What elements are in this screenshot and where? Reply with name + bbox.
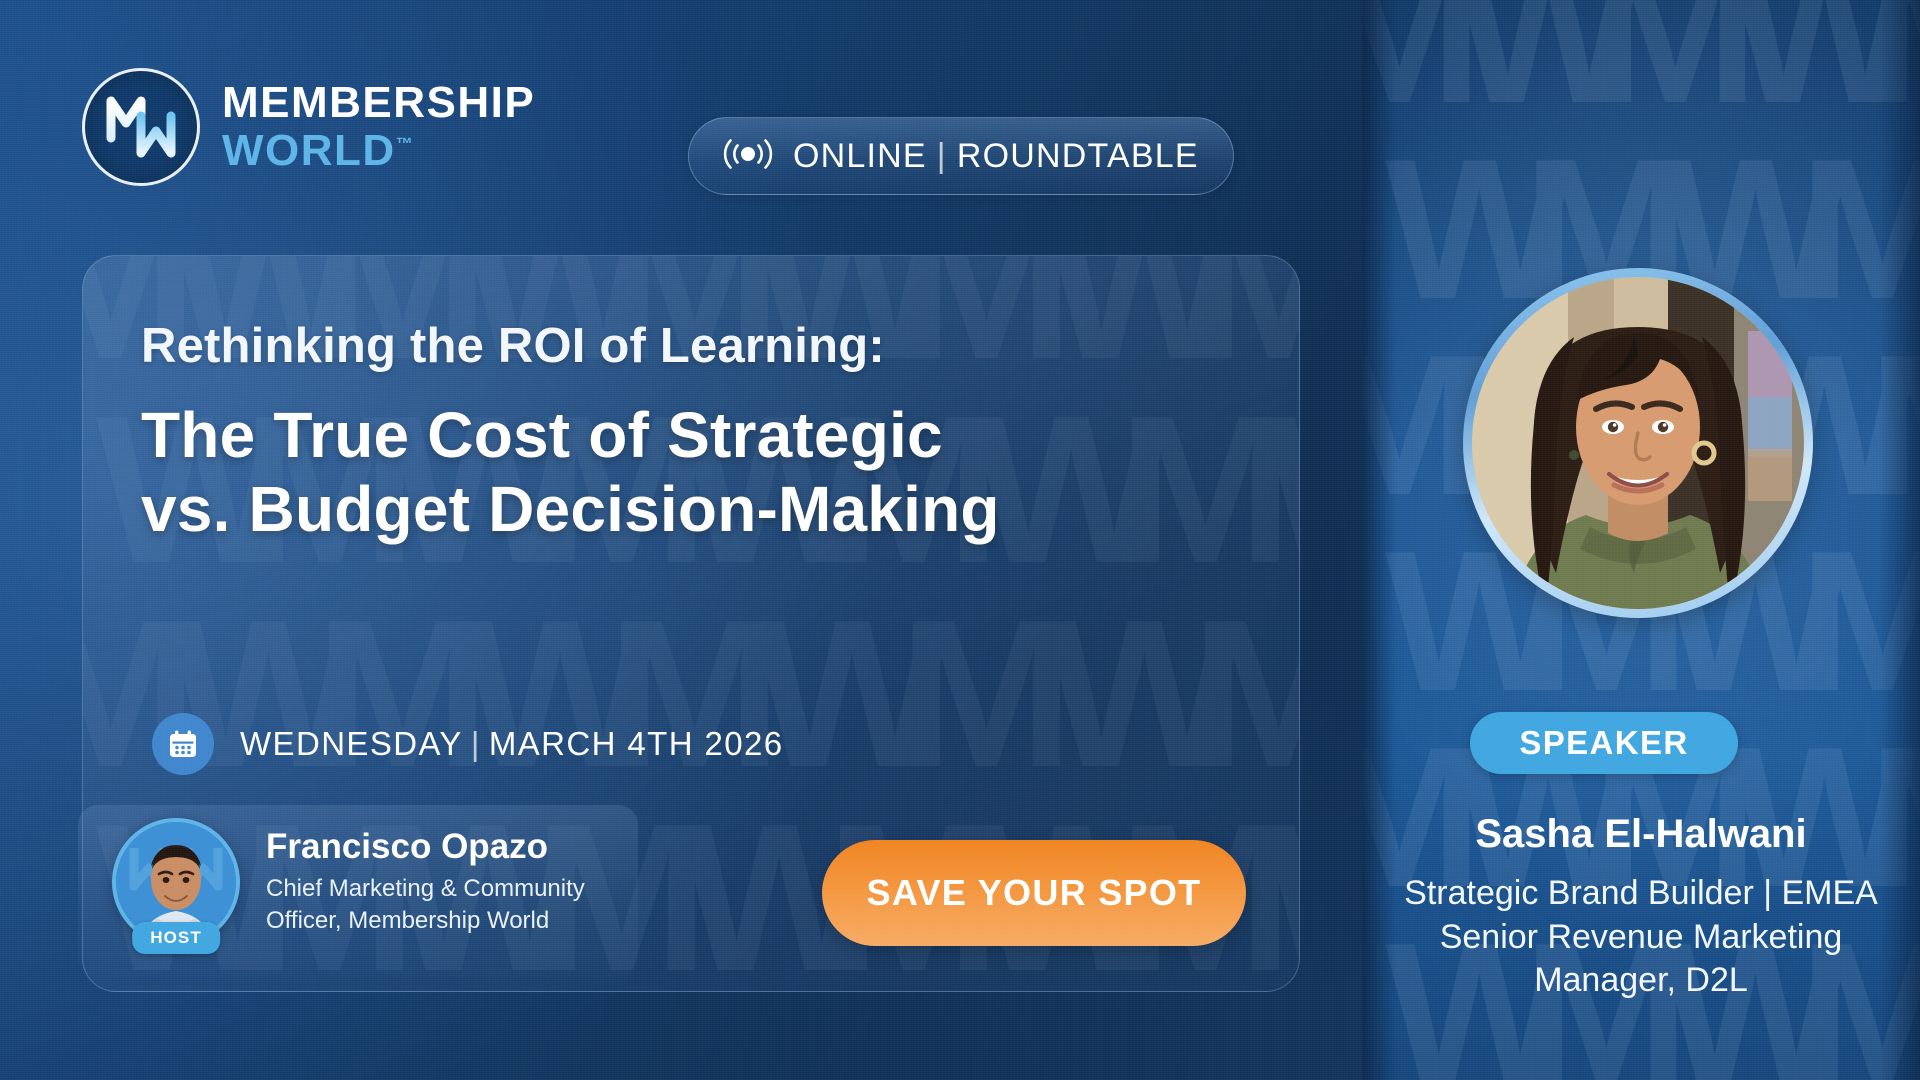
host-title-line-2: Officer, Membership World: [266, 905, 585, 937]
speaker-role-line-2: Senior Revenue Marketing: [1362, 916, 1920, 960]
brand-logo[interactable]: MEMBERSHIP WORLD™: [82, 68, 535, 186]
format-badge-text: ONLINE|ROUNDTABLE: [793, 137, 1199, 176]
headline-line-1: The True Cost of Strategic: [141, 398, 1241, 472]
speaker-badge: SPEAKER: [1470, 712, 1738, 774]
brand-name-line2: WORLD™: [222, 129, 535, 173]
format-type: ROUNDTABLE: [957, 137, 1199, 175]
brand-wordmark: MEMBERSHIP WORLD™: [222, 81, 535, 173]
host-info: Francisco Opazo Chief Marketing & Commun…: [266, 828, 585, 937]
host-badge: HOST: [132, 922, 220, 954]
format-badge[interactable]: ONLINE|ROUNDTABLE: [688, 117, 1234, 195]
mw-monogram-icon: [82, 68, 200, 186]
host-avatar-wrap: HOST: [112, 818, 240, 946]
broadcast-icon: [723, 137, 773, 176]
session-date-text: WEDNESDAY|MARCH 4TH 2026: [240, 725, 784, 763]
speaker-portrait: [1472, 277, 1804, 609]
save-your-spot-button[interactable]: SAVE YOUR SPOT: [822, 840, 1246, 946]
speaker-photo-wrap: [1463, 268, 1813, 618]
brand-name-line1: MEMBERSHIP: [222, 81, 535, 125]
host-title: Chief Marketing & Community Officer, Mem…: [266, 873, 585, 936]
headline-line-2: vs. Budget Decision-Making: [141, 472, 1241, 546]
calendar-icon: [152, 713, 214, 775]
speaker-role: Strategic Brand Builder | EMEA Senior Re…: [1362, 872, 1920, 1003]
trademark-symbol: ™: [396, 134, 413, 153]
speaker-name: Sasha El-Halwani: [1362, 812, 1920, 857]
speaker-photo-ring: [1463, 268, 1813, 618]
format-separator: |: [937, 137, 947, 175]
speaker-role-line-1: Strategic Brand Builder | EMEA: [1362, 872, 1920, 916]
date-value: MARCH 4TH 2026: [489, 725, 784, 762]
promo-banner: MWMWMWMWMWMWMWMWMWMWMWMWMWMWMW MEMBERSH: [0, 0, 1920, 1080]
host-title-line-1: Chief Marketing & Community: [266, 873, 585, 905]
page-title: The True Cost of Strategic vs. Budget De…: [141, 398, 1241, 546]
session-kicker: Rethinking the ROI of Learning:: [141, 318, 885, 374]
host-name: Francisco Opazo: [266, 828, 585, 867]
speaker-role-line-3: Manager, D2L: [1362, 959, 1920, 1003]
format-mode: ONLINE: [793, 137, 927, 175]
host-block: HOST Francisco Opazo Chief Marketing & C…: [112, 818, 585, 946]
date-weekday: WEDNESDAY: [240, 725, 463, 762]
session-date: WEDNESDAY|MARCH 4TH 2026: [152, 713, 784, 775]
date-separator: |: [471, 725, 481, 762]
